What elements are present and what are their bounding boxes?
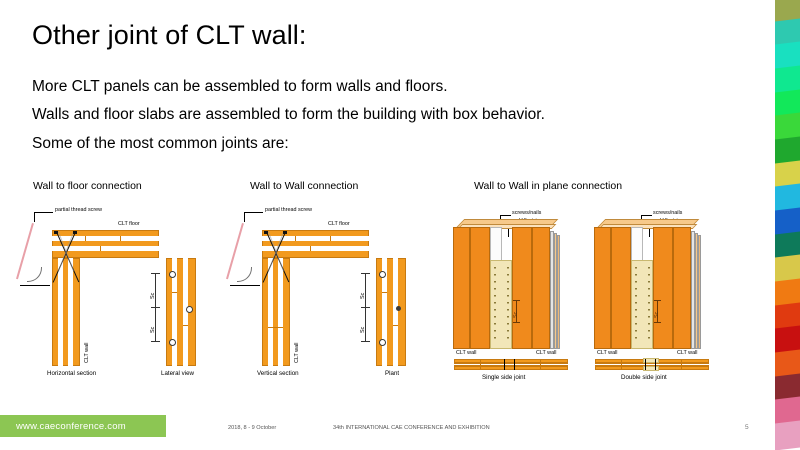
label-clt-wall: CLT wall xyxy=(84,343,90,363)
clt-panel-left-1 xyxy=(594,227,611,349)
legend-baseline xyxy=(20,285,50,286)
plant-lam-2 xyxy=(393,258,398,366)
wall-lamination-1 xyxy=(58,258,63,366)
clt-panel-left-2 xyxy=(470,227,490,349)
clt-panel-right-1 xyxy=(653,227,673,349)
dimension-tick-top xyxy=(151,273,160,274)
screw-marker-top xyxy=(169,271,176,278)
wall-joint-line xyxy=(268,327,283,328)
nail-column-left xyxy=(494,267,496,343)
mosaic-decoration xyxy=(775,0,800,450)
caption-horizontal-section: Horizontal section xyxy=(47,371,96,377)
label-clt-wall-left: CLT wall xyxy=(456,351,476,356)
caption-vertical-section: Vertical section xyxy=(257,371,299,377)
dimension-tick-bottom xyxy=(654,322,661,323)
dimension-label-sc: Sc xyxy=(654,312,660,318)
wall-lamination-1 xyxy=(268,258,273,366)
plan-band-bottom xyxy=(454,366,568,370)
diagram-wall-to-floor: partial thread screw CLT floor CLT wall … xyxy=(20,205,235,380)
floor-joint-line-2 xyxy=(120,236,121,241)
callout-leader-vertical xyxy=(34,212,35,222)
plan-panel-line-2 xyxy=(681,359,682,370)
diagram-wall-to-wall: partial thread screw CLT floor CLT wall … xyxy=(230,205,445,380)
wall-lamination-2 xyxy=(278,258,283,366)
page-title: Other joint of CLT wall: xyxy=(32,20,307,51)
screw-marker-bottom xyxy=(169,339,176,346)
body-paragraph-1: More CLT panels can be assembled to form… xyxy=(32,78,732,95)
caption-double-side-joint: Double side joint xyxy=(621,375,667,381)
dimension-tick-mid xyxy=(151,307,160,308)
section-heading-wall-to-wall-in-plane: Wall to Wall in plane connection xyxy=(474,180,622,192)
dimension-label-upper: Sc xyxy=(150,293,156,299)
dimension-tick-bottom xyxy=(513,322,520,323)
plan-section: CLT wall CLT wall xyxy=(593,351,713,373)
label-clt-floor: CLT floor xyxy=(328,222,350,227)
plan-joint-right xyxy=(655,359,656,370)
floor-joint-line-1 xyxy=(85,236,86,241)
plan-joint-left xyxy=(645,359,646,370)
dimension-label-upper: Sc xyxy=(360,293,366,299)
nail-column-right xyxy=(648,267,650,343)
floor-lamination-1 xyxy=(262,236,369,241)
lateral-joint-1 xyxy=(172,292,177,293)
nail-column-right xyxy=(507,267,509,343)
legend-baseline xyxy=(230,285,260,286)
plan-section: CLT wall CLT wall xyxy=(452,351,572,373)
clt-panel-right-1 xyxy=(512,227,532,349)
body-text: More CLT panels can be assembled to form… xyxy=(32,78,732,163)
caption-plant: Plant xyxy=(385,371,399,377)
dimension-tick-mid xyxy=(361,307,370,308)
lateral-joint-2 xyxy=(183,325,188,326)
dimension-label-lower: Sc xyxy=(150,327,156,333)
callout-leader-vertical xyxy=(244,212,245,222)
label-clt-wall: CLT wall xyxy=(294,343,300,363)
dimension-tick-bottom xyxy=(151,341,160,342)
diagram-single-side-joint: screws/nails LVL strip Sc CLT wall CLT w… xyxy=(452,205,602,380)
wall-lamination-2 xyxy=(68,258,73,366)
label-clt-wall-right: CLT wall xyxy=(677,351,697,356)
screw-marker-middle xyxy=(186,306,193,313)
floor-joint-line-1 xyxy=(295,236,296,241)
dimension-tick-top xyxy=(654,300,661,301)
dimension-tick-bottom xyxy=(361,341,370,342)
mosaic-tile xyxy=(775,421,800,450)
footer-conference-name: 34th INTERNATIONAL CAE CONFERENCE AND EX… xyxy=(333,425,490,431)
plan-panel-line-2 xyxy=(540,359,541,370)
body-paragraph-3: Some of the most common joints are: xyxy=(32,135,732,152)
wall-side-face-3 xyxy=(557,235,560,349)
nail-column-left xyxy=(635,267,637,343)
slide-number: 5 xyxy=(745,424,749,431)
dimension-tick-top xyxy=(361,273,370,274)
callout-leader-horizontal xyxy=(244,212,263,213)
screw-head-right xyxy=(283,231,287,234)
clt-panel-left-2 xyxy=(611,227,631,349)
label-clt-floor: CLT floor xyxy=(118,222,140,227)
callout-screws-nails: screws/nails xyxy=(653,211,682,216)
plant-joint-1 xyxy=(382,292,387,293)
diagram-double-side-joint: screws/nails LVL strip Sc CLT wall CLT w… xyxy=(593,205,743,380)
angle-arc xyxy=(27,267,42,282)
screw-head-left xyxy=(264,231,268,234)
plan-joint-right xyxy=(514,359,515,370)
dimension-label-lower: Sc xyxy=(360,327,366,333)
plant-joint-2 xyxy=(393,325,398,326)
callout-leader-horizontal xyxy=(34,212,53,213)
screw-head-left xyxy=(54,231,58,234)
floor-joint-line-3 xyxy=(100,246,101,251)
screw-marker-bottom xyxy=(379,339,386,346)
callout-partial-thread-screw: partial thread screw xyxy=(55,208,102,213)
section-heading-wall-to-floor: Wall to floor connection xyxy=(33,180,142,192)
caption-lateral-view: Lateral view xyxy=(161,371,194,377)
screw-marker-middle xyxy=(396,306,401,311)
clt-panel-right-2 xyxy=(532,227,550,349)
angle-arc xyxy=(237,267,252,282)
callout-line-screws xyxy=(641,215,652,216)
footer-url[interactable]: www.caeconference.com xyxy=(16,421,126,432)
floor-joint-line-3 xyxy=(310,246,311,251)
wall-side-face-3 xyxy=(698,235,701,349)
body-paragraph-2: Walls and floor slabs are assembled to f… xyxy=(32,106,732,123)
screw-head-right xyxy=(73,231,77,234)
floor-lamination-1 xyxy=(52,236,159,241)
floor-joint-line-2 xyxy=(330,236,331,241)
label-clt-wall-right: CLT wall xyxy=(536,351,556,356)
clt-panel-left-1 xyxy=(453,227,470,349)
plan-panel-line-1 xyxy=(621,359,622,370)
slide: Other joint of CLT wall: More CLT panels… xyxy=(0,0,800,450)
callout-partial-thread-screw: partial thread screw xyxy=(265,208,312,213)
dimension-tick-top xyxy=(513,300,520,301)
label-clt-wall-left: CLT wall xyxy=(597,351,617,356)
footer-date: 2018, 8 - 9 October xyxy=(228,425,276,431)
callout-line-screws xyxy=(500,215,511,216)
screw-marker-top xyxy=(379,271,386,278)
plan-joint-left xyxy=(504,359,505,370)
caption-single-side-joint: Single side joint xyxy=(482,375,525,381)
plan-panel-line-1 xyxy=(480,359,481,370)
callout-screws-nails: screws/nails xyxy=(512,211,541,216)
section-heading-wall-to-wall: Wall to Wall connection xyxy=(250,180,358,192)
clt-panel-right-2 xyxy=(673,227,691,349)
dimension-label-sc: Sc xyxy=(513,312,519,318)
